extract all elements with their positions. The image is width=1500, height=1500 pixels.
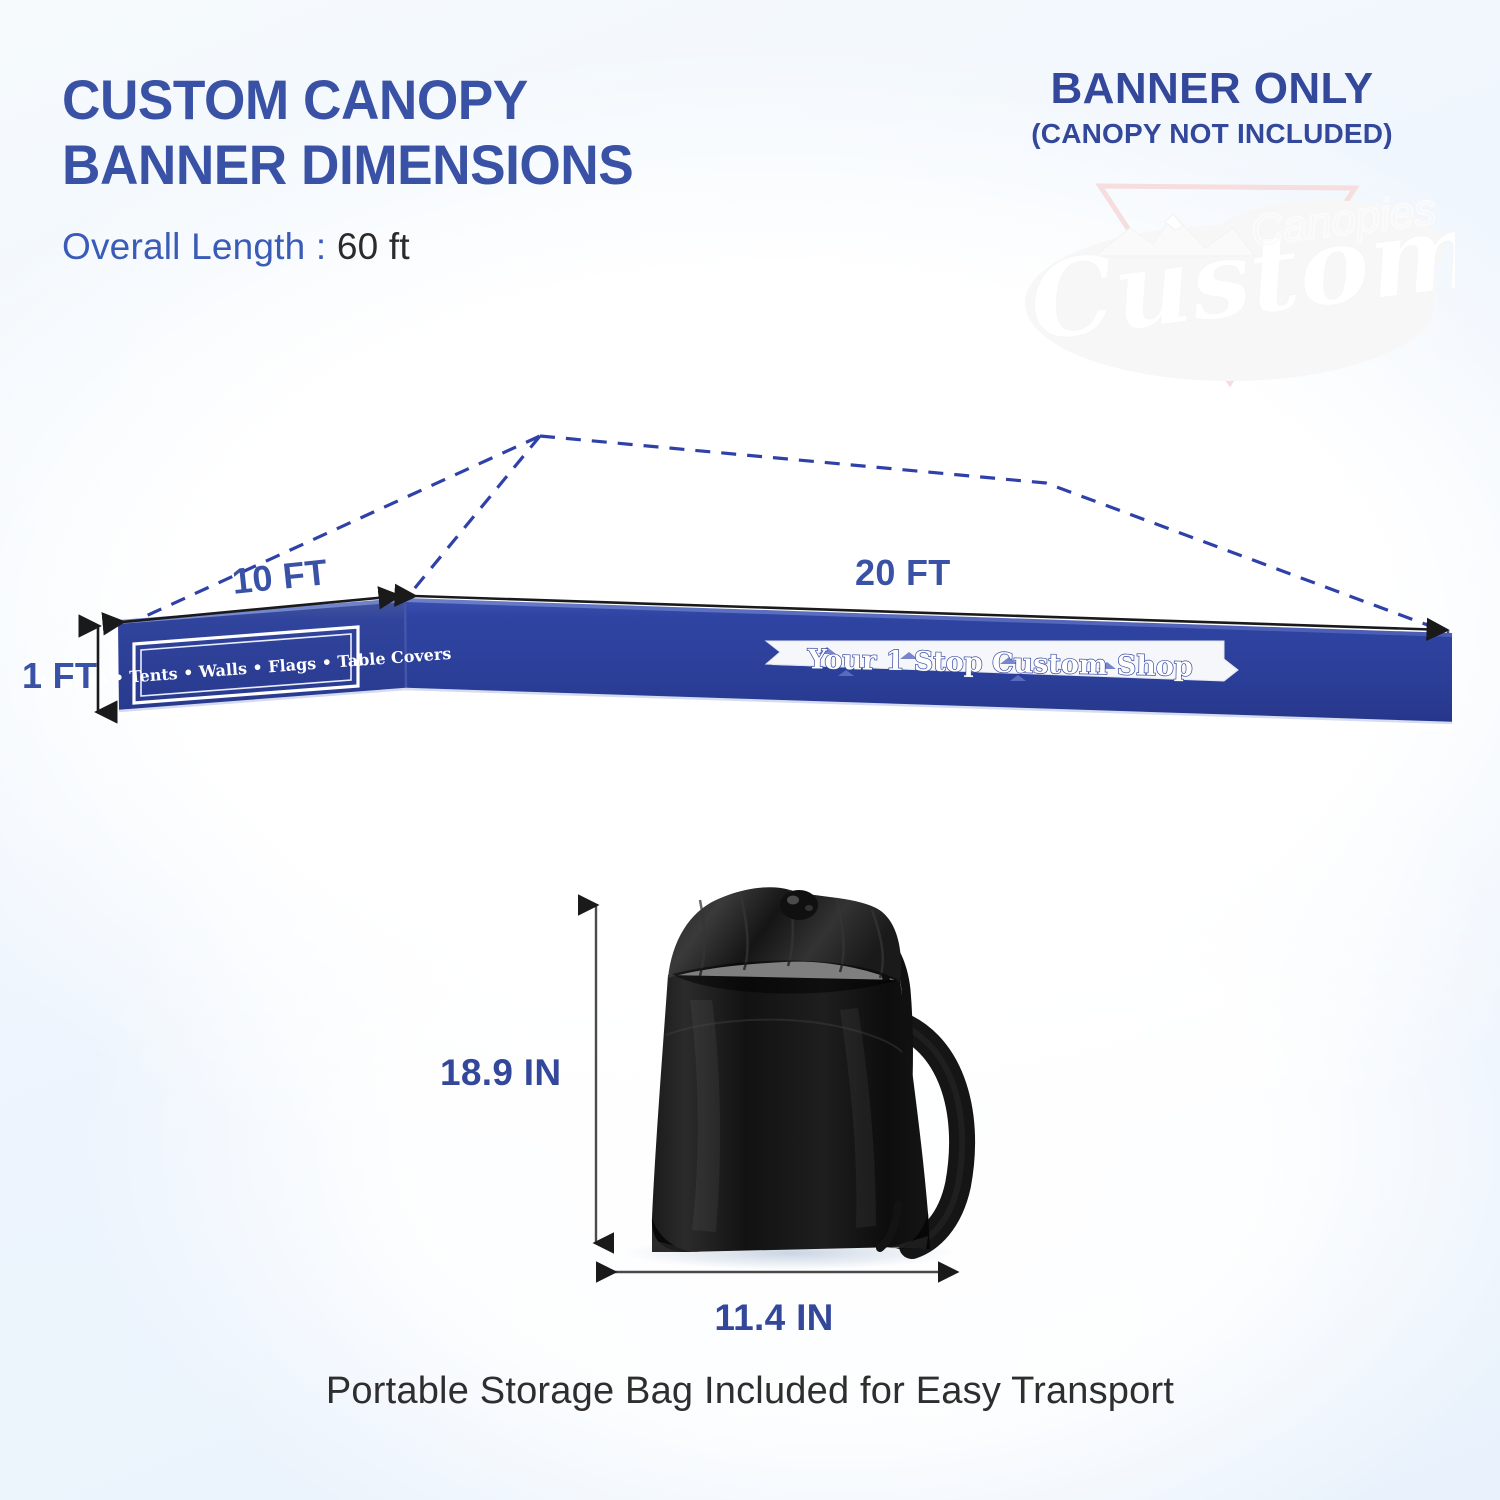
left-panel-text: Custom • Tents • Walls • Flags • Table C… xyxy=(39,644,452,693)
page-title-line-1: CUSTOM CANOPY xyxy=(62,68,860,133)
dim-label-bag-height: 18.9 IN xyxy=(440,1052,561,1094)
canopy-left-valance xyxy=(118,600,406,711)
dim-label-1ft: 1 FT xyxy=(22,655,97,697)
page-title-line-2: BANNER DIMENSIONS xyxy=(62,133,860,198)
storage-bag-caption: Portable Storage Bag Included for Easy T… xyxy=(0,1370,1500,1413)
bag-strap xyxy=(893,1022,962,1246)
canopy-roof-dashed-outline xyxy=(124,436,1449,633)
bag-drawstring-cord xyxy=(812,914,908,1205)
watermark-script-text: Custom xyxy=(1023,186,1455,365)
overall-length-text: Overall Length : 60 ft xyxy=(62,226,902,268)
dim-label-20ft: 20 FT xyxy=(855,552,951,594)
dim-arrow-20ft xyxy=(414,596,1446,630)
watermark-outline-text: Canopies xyxy=(1248,185,1438,256)
canopy-not-included-note: (CANOPY NOT INCLUDED) xyxy=(982,118,1442,150)
dim-label-bag-width-text: 11.4 IN xyxy=(714,1297,833,1338)
front-panel-banner-ribbon: Your 1 Stop Custom Shop xyxy=(766,641,1238,683)
left-panel-banner-plate xyxy=(134,627,358,703)
bag-cord-lock-bead xyxy=(780,890,818,920)
canopy-front-valance xyxy=(405,600,1452,723)
bag-cord-tail xyxy=(880,1205,898,1248)
bag-gather-folds xyxy=(700,890,883,978)
custom-canopies-watermark-logo: Custom Canopies xyxy=(1005,178,1455,403)
bag-gathered-top xyxy=(668,887,901,982)
bag-shadow xyxy=(625,1236,955,1270)
page-title: CUSTOM CANOPY BANNER DIMENSIONS Overall … xyxy=(62,68,902,268)
overall-length-label: Overall Length : xyxy=(62,226,326,267)
front-panel-text: Your 1 Stop Custom Shop xyxy=(806,644,1193,682)
overall-length-value: 60 ft xyxy=(337,226,410,267)
bag-body xyxy=(652,975,928,1252)
banner-only-notice: BANNER ONLY (CANOPY NOT INCLUDED) xyxy=(982,66,1442,150)
dim-label-bag-width: 11.4 IN xyxy=(0,1297,1500,1339)
banner-only-heading: BANNER ONLY xyxy=(982,66,1442,112)
bag-sheen xyxy=(690,1000,876,1232)
infographic-canvas: Custom Canopies CUSTOM CANOPY BANNER DIM… xyxy=(0,0,1500,1500)
dim-label-10ft: 10 FT xyxy=(230,551,329,603)
